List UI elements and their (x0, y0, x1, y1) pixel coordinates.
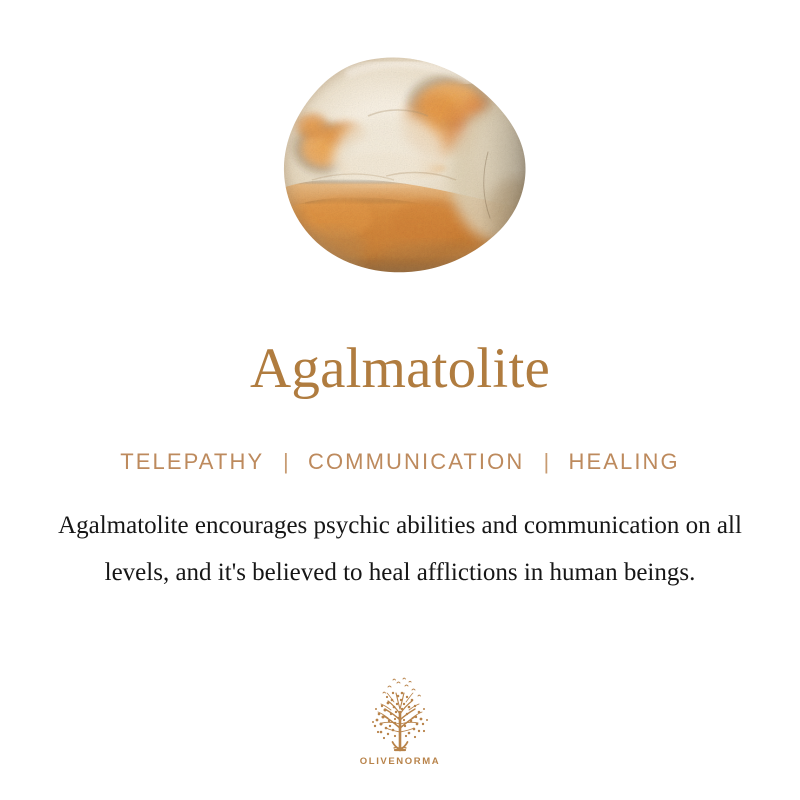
brand-name: OLIVENORMA (340, 756, 460, 768)
page-title: Agalmatolite (0, 337, 800, 401)
keyword-list: TELEPATHY | COMMUNICATION | HEALING (0, 447, 800, 477)
stone-illustration (282, 56, 530, 274)
keyword-healing: HEALING (568, 449, 679, 474)
keyword-separator: | (272, 447, 300, 477)
stone-image-area (0, 40, 800, 290)
keyword-separator: | (533, 447, 561, 477)
product-description: Agalmatolite encourages psychic abilitie… (55, 502, 745, 596)
keyword-communication: COMMUNICATION (308, 449, 524, 474)
agalmatolite-stone-image (282, 56, 530, 274)
stone-body (282, 56, 530, 274)
brand-logo: OLIVENORMA (340, 676, 460, 768)
product-card: Agalmatolite TELEPATHY | COMMUNICATION |… (0, 0, 800, 800)
olive-tree-icon (357, 676, 443, 754)
keyword-telepathy: TELEPATHY (120, 449, 264, 474)
